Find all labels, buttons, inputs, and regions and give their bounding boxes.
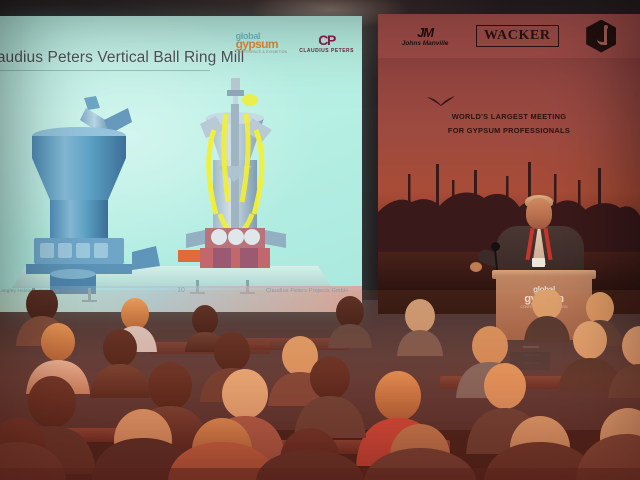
sponsor-logo-johns-manville: JM Johns Manville [402,26,449,47]
global-gypsum-logo: global gypsum CONFERENCE & EXHIBITION [236,32,288,54]
banner-tagline-line2: FOR GYPSUM PROFESSIONALS [378,124,640,138]
audience-person [328,296,372,348]
slide-title: Claudius Peters Vertical Ball Ring Mill [0,49,244,67]
bird-icon [426,94,452,104]
slide-title-rule [0,70,210,71]
global-gypsum-logo-line2: gypsum [236,39,288,50]
speaker-head [526,198,552,229]
slide-logo-group: global gypsum CONFERENCE & EXHIBITION CP… [236,32,354,54]
claudius-peters-logo: CP CLAUDIUS PETERS [299,33,354,54]
conference-photo: Claudius Peters Vertical Ball Ring Mill … [0,0,640,480]
presentation-slide: Claudius Peters Vertical Ball Ring Mill … [0,16,362,312]
claudius-peters-mark: CP [299,33,354,47]
mill-diagram [0,74,362,302]
audience [0,290,640,480]
microphone-icon [491,242,500,251]
sponsor-logo-wacker: WACKER [476,25,559,47]
banner-sponsor-strip: JM Johns Manville WACKER [378,14,640,58]
banner-tagline-line1: WORLD'S LARGEST MEETING [378,110,640,124]
claudius-peters-name: CLAUDIUS PETERS [299,48,354,54]
audience-svg [0,290,640,480]
johns-manville-name: Johns Manville [402,40,449,47]
projection-screen: Claudius Peters Vertical Ball Ring Mill … [0,16,362,312]
global-gypsum-logo-line3: CONFERENCE & EXHIBITION [236,51,288,54]
johns-manville-mark: JM [402,26,449,39]
sponsor-logo-jaeklin [586,20,616,53]
audience-person [397,299,443,356]
banner-tagline: WORLD'S LARGEST MEETING FOR GYPSUM PROFE… [378,110,640,137]
audience-person [524,290,570,342]
mill-diagram-svg [0,74,362,302]
speaker-hand [470,262,482,272]
mill-cutaway-view [178,78,286,294]
speaker-name-badge [532,258,545,267]
